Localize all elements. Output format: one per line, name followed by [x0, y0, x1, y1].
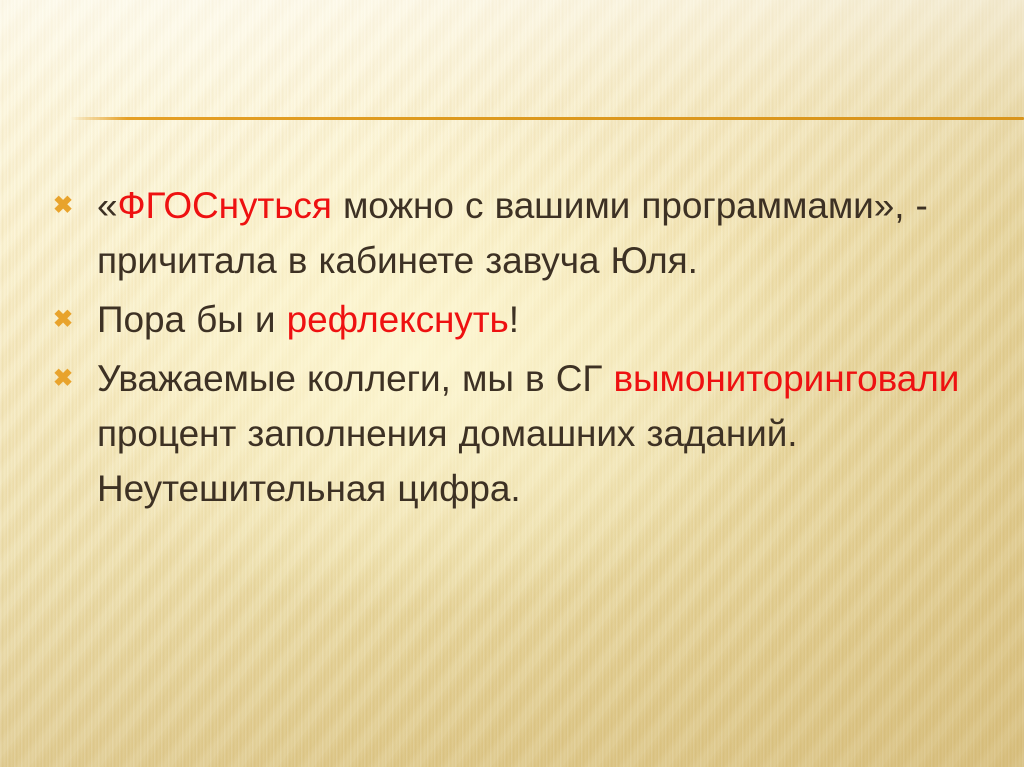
- list-item: ✖ «ФГОСнуться можно с вашими программами…: [44, 178, 980, 288]
- bullet-list: ✖ «ФГОСнуться можно с вашими программами…: [44, 178, 980, 516]
- text-segment: «: [97, 185, 117, 226]
- text-segment: !: [509, 299, 519, 340]
- text-segment: процент заполнения домашних заданий. Неу…: [97, 413, 797, 509]
- text-segment: Уважаемые коллеги, мы в СГ: [97, 358, 613, 399]
- list-item: ✖ Пора бы и рефлекснуть!: [44, 292, 980, 347]
- cross-bullet-icon: ✖: [48, 292, 78, 347]
- cross-bullet-icon: ✖: [48, 178, 78, 233]
- highlighted-text-segment: вымониторинговали: [613, 358, 959, 399]
- bullet-text-3: Уважаемые коллеги, мы в СГ вымониторинго…: [97, 358, 959, 509]
- list-item: ✖ Уважаемые коллеги, мы в СГ вымониторин…: [44, 351, 980, 516]
- bullet-text-2: Пора бы и рефлекснуть!: [97, 299, 519, 340]
- highlighted-text-segment: рефлекснуть: [287, 299, 509, 340]
- text-segment: Пора бы и: [97, 299, 287, 340]
- title-divider-rule: [70, 117, 1024, 120]
- bullet-text-1: «ФГОСнуться можно с вашими программами»,…: [97, 185, 928, 281]
- cross-bullet-icon: ✖: [48, 351, 78, 406]
- highlighted-text-segment: ФГОСнуться: [117, 185, 331, 226]
- slide-body: ✖ «ФГОСнуться можно с вашими программами…: [44, 178, 980, 516]
- presentation-slide: ✖ «ФГОСнуться можно с вашими программами…: [0, 0, 1024, 767]
